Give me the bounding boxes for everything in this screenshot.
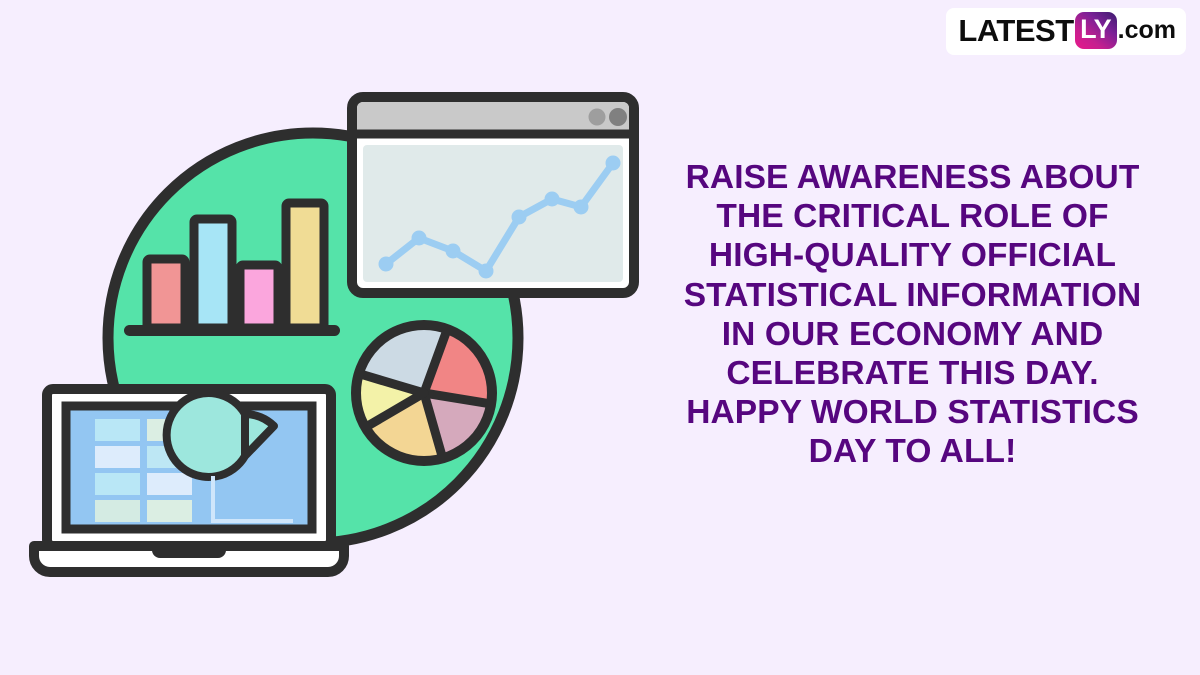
message-line-2: THE CRITICAL ROLE OF <box>655 197 1170 236</box>
line-point-2 <box>412 231 427 246</box>
statistics-illustration <box>0 0 660 675</box>
message-line-7: HAPPY WORLD STATISTICS <box>655 393 1170 432</box>
greeting-message: RAISE AWARENESS ABOUT THE CRITICAL ROLE … <box>655 158 1170 472</box>
latestly-logo[interactable]: LATEST LY .com <box>946 8 1186 55</box>
table-cell-5 <box>95 473 140 495</box>
bar-1 <box>147 259 185 328</box>
message-line-4: STATISTICAL INFORMATION <box>655 276 1170 315</box>
line-point-4 <box>479 264 494 279</box>
table-cell-1 <box>95 419 140 441</box>
message-line-5: IN OUR ECONOMY AND <box>655 315 1170 354</box>
table-cell-3 <box>95 446 140 468</box>
message-line-3: HIGH-QUALITY OFFICIAL <box>655 236 1170 275</box>
pie-chart-graphic <box>356 325 492 461</box>
message-line-6: CELEBRATE THIS DAY. <box>655 354 1170 393</box>
line-point-6 <box>545 192 560 207</box>
logo-badge-ly: LY <box>1075 12 1117 49</box>
laptop-graphic <box>34 389 344 572</box>
table-cell-6 <box>147 473 192 495</box>
logo-text-latest: LATEST <box>958 15 1073 46</box>
laptop-notch <box>152 548 226 558</box>
line-point-8 <box>606 156 621 171</box>
browser-titlebar <box>357 102 629 134</box>
line-point-5 <box>512 210 527 225</box>
line-point-7 <box>574 200 589 215</box>
message-line-1: RAISE AWARENESS ABOUT <box>655 158 1170 197</box>
bar-4 <box>286 203 324 328</box>
table-cell-8 <box>147 500 192 522</box>
bar-3 <box>240 265 278 328</box>
bar-2 <box>194 219 232 328</box>
message-line-8: DAY TO ALL! <box>655 432 1170 471</box>
logo-text-dotcom: .com <box>1118 18 1176 44</box>
table-cell-7 <box>95 500 140 522</box>
line-point-1 <box>379 257 394 272</box>
browser-dot-1 <box>589 109 606 126</box>
browser-dot-2 <box>609 108 627 126</box>
browser-window-graphic <box>352 97 634 293</box>
line-point-3 <box>446 244 461 259</box>
bar-chart-baseline <box>124 325 340 336</box>
poster-canvas: RAISE AWARENESS ABOUT THE CRITICAL ROLE … <box>0 0 1200 675</box>
